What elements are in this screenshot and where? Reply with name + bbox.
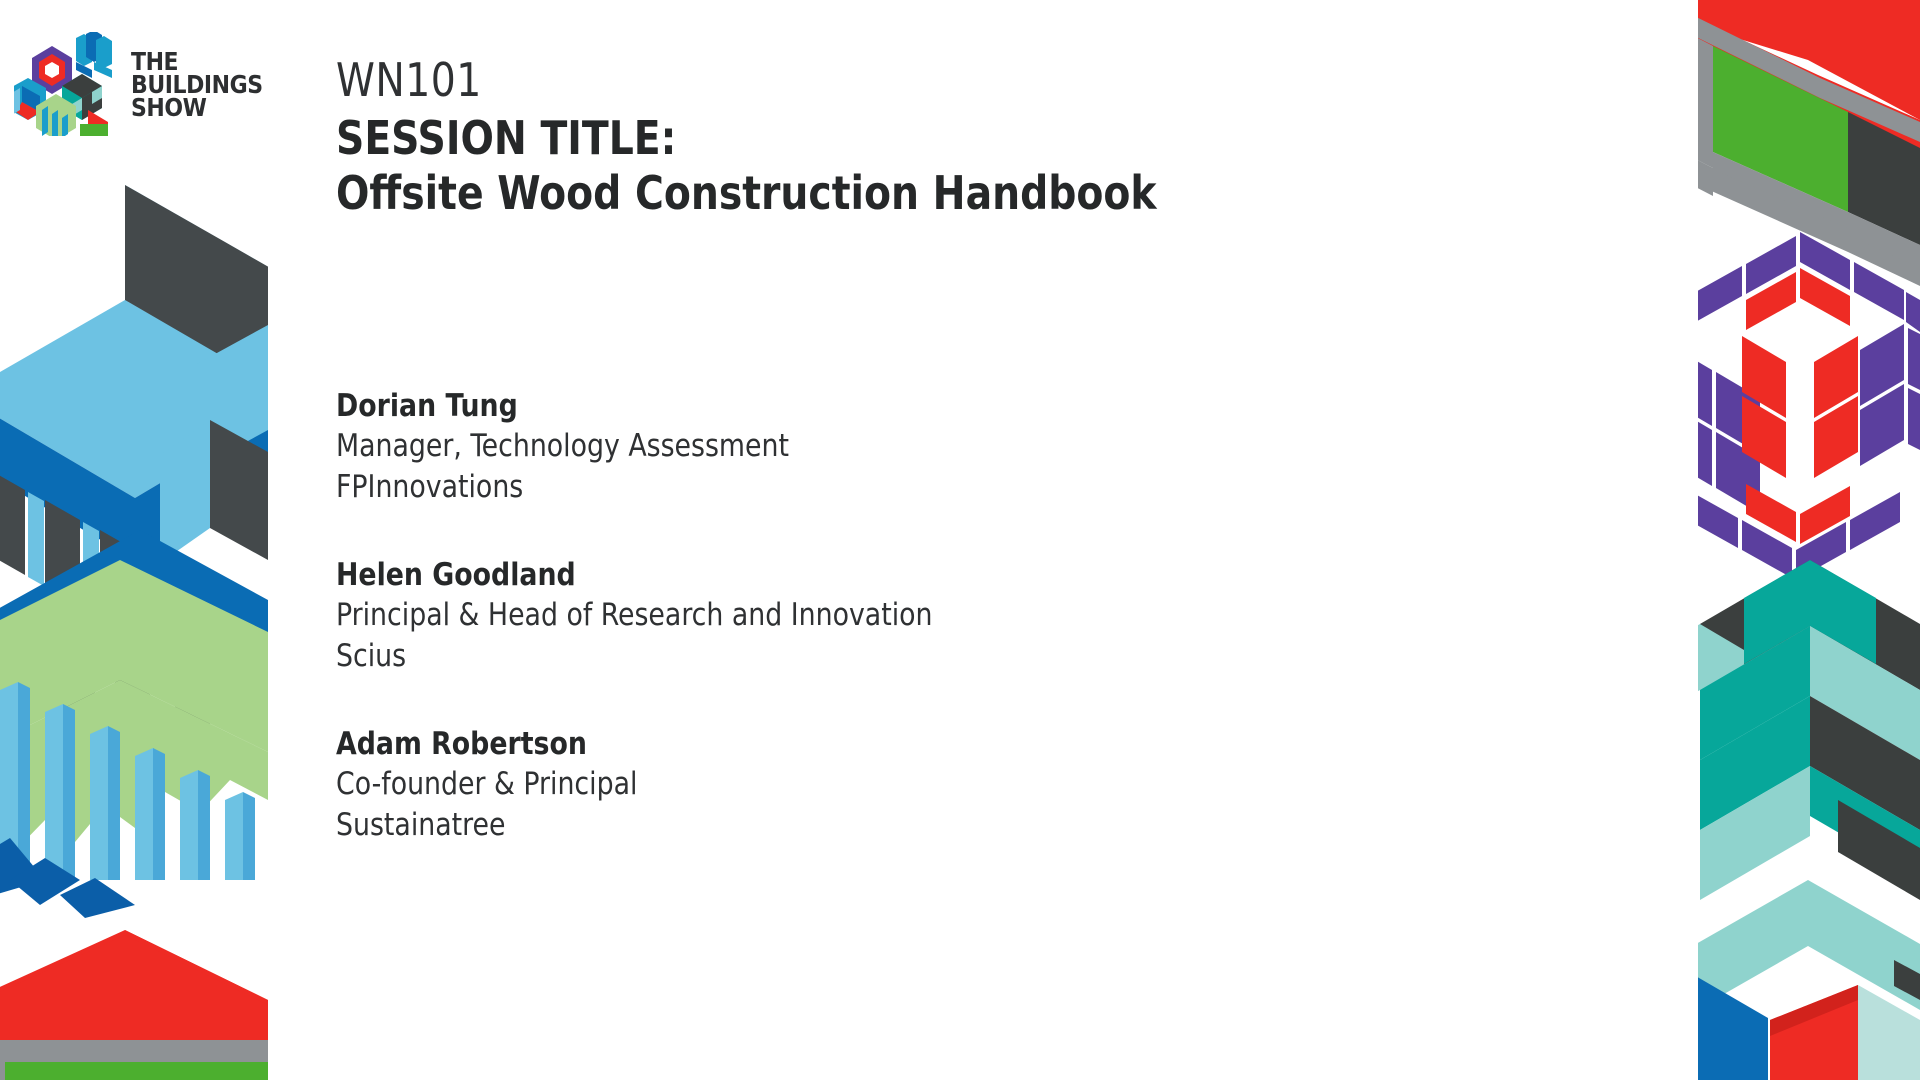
speaker-entry: Adam Robertson Co-founder & Principal Su…	[336, 724, 1616, 845]
right-decorative-graphic	[1698, 0, 1920, 1080]
iso-red-green-hexagon	[0, 930, 268, 1080]
slide-content: WN101 SESSION TITLE: Offsite Wood Constr…	[336, 56, 1616, 845]
speaker-list: Dorian Tung Manager, Technology Assessme…	[336, 386, 1616, 845]
bottom-teal-blue-red	[1698, 880, 1920, 1080]
session-title-name: Offsite Wood Construction Handbook	[336, 166, 1552, 221]
iso-green-hexagon	[0, 560, 268, 918]
speaker-name: Helen Goodland	[336, 555, 1565, 595]
session-title-label: SESSION TITLE:	[336, 111, 1552, 166]
presentation-slide: THE BUILDINGS SHOW WN101 SESSION TITLE: …	[0, 0, 1920, 1080]
speaker-organization: Sustainatree	[336, 805, 1565, 845]
speaker-organization: FPInnovations	[336, 467, 1565, 507]
purple-red-hexagon	[1698, 232, 1920, 580]
session-code: WN101	[336, 56, 1552, 105]
logo-wordmark: THE BUILDINGS SHOW	[131, 50, 281, 119]
speaker-name: Dorian Tung	[336, 386, 1565, 426]
speaker-entry: Dorian Tung Manager, Technology Assessme…	[336, 386, 1616, 507]
speaker-name: Adam Robertson	[336, 724, 1565, 764]
speaker-entry: Helen Goodland Principal & Head of Resea…	[336, 555, 1616, 676]
logo-line-show: SHOW	[131, 96, 263, 119]
teal-cube-cluster	[1698, 560, 1920, 900]
hexagon-cluster-icon	[14, 32, 122, 136]
buildings-show-logo: THE BUILDINGS SHOW	[14, 28, 276, 140]
left-decorative-graphic	[0, 0, 268, 1080]
speaker-role: Co-founder & Principal	[336, 764, 1565, 804]
speaker-organization: Scius	[336, 636, 1565, 676]
speaker-role: Principal & Head of Research and Innovat…	[336, 595, 1565, 635]
speaker-role: Manager, Technology Assessment	[336, 426, 1565, 466]
